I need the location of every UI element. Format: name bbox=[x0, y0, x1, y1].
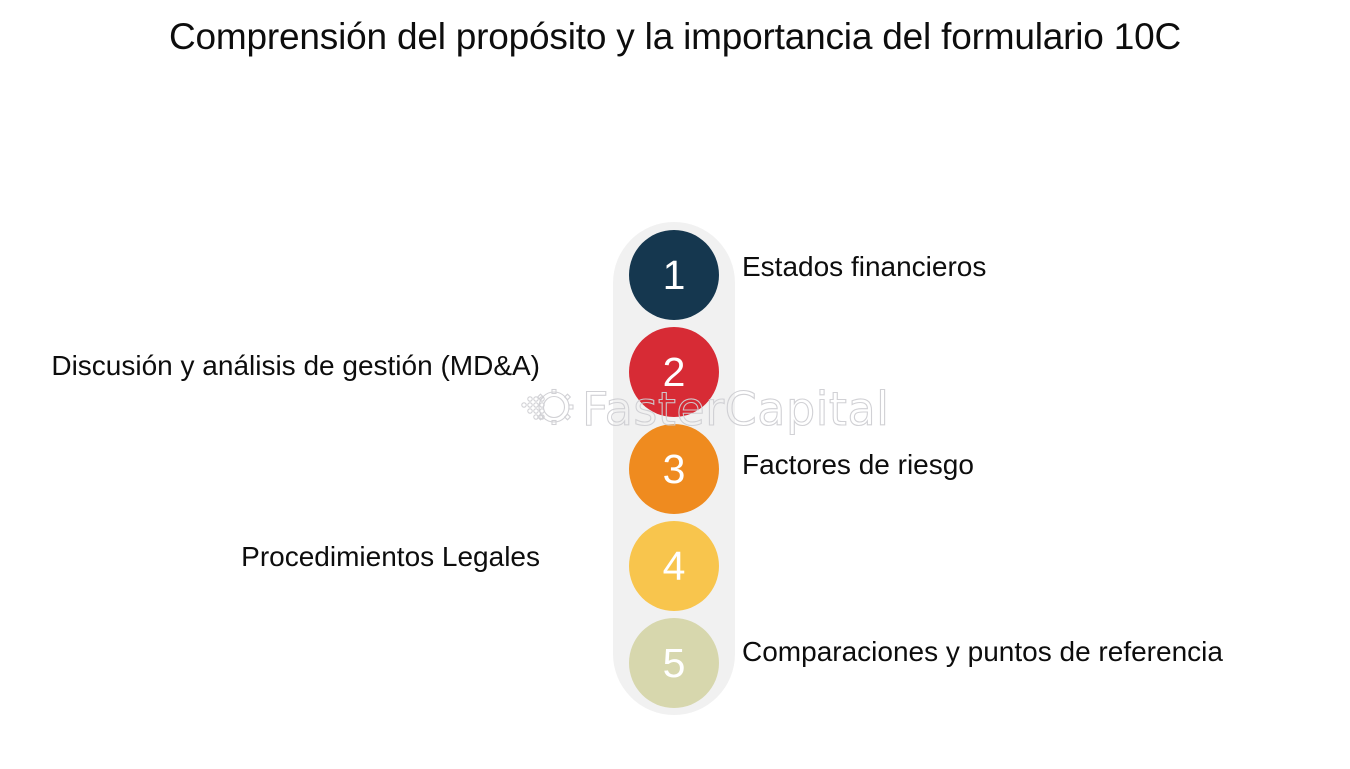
step-number-2: 2 bbox=[663, 352, 686, 393]
step-label-3: Factores de riesgo bbox=[742, 448, 974, 482]
numbered-steps-diagram: 1 2 3 4 5 bbox=[613, 222, 735, 715]
gear-dots-icon bbox=[516, 379, 578, 440]
step-circle-1[interactable]: 1 bbox=[629, 230, 719, 320]
step-circle-5[interactable]: 5 bbox=[629, 618, 719, 708]
step-label-2: Discusión y análisis de gestión (MD&A) bbox=[51, 349, 540, 383]
step-number-5: 5 bbox=[663, 643, 686, 684]
step-label-1: Estados financieros bbox=[742, 250, 986, 284]
page-title: Comprensión del propósito y la importanc… bbox=[0, 14, 1350, 60]
step-label-4: Procedimientos Legales bbox=[241, 540, 540, 574]
step-number-4: 4 bbox=[663, 546, 686, 587]
step-number-3: 3 bbox=[663, 449, 686, 490]
step-circle-2[interactable]: 2 bbox=[629, 327, 719, 417]
step-circle-3[interactable]: 3 bbox=[629, 424, 719, 514]
step-circle-4[interactable]: 4 bbox=[629, 521, 719, 611]
step-label-5: Comparaciones y puntos de referencia bbox=[742, 635, 1223, 669]
step-number-1: 1 bbox=[663, 255, 686, 296]
